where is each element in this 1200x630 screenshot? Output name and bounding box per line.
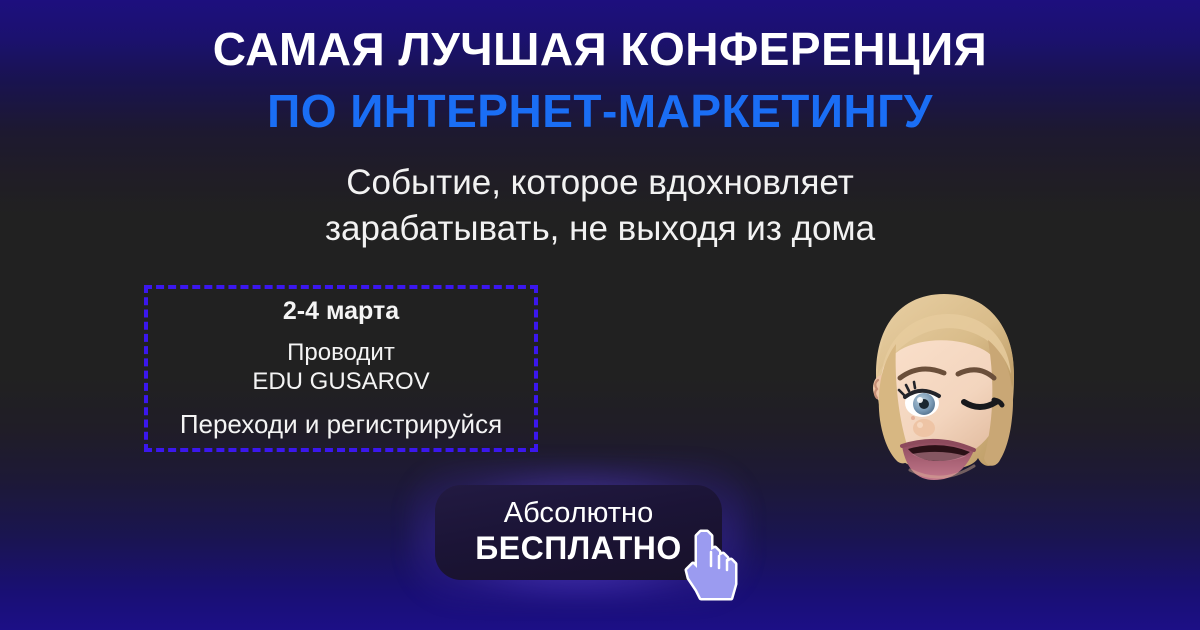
headline-line-1: САМАЯ ЛУЧШАЯ КОНФЕРЕНЦИЯ bbox=[0, 26, 1200, 72]
promo-banner: САМАЯ ЛУЧШАЯ КОНФЕРЕНЦИЯ ПО ИНТЕРНЕТ-МАР… bbox=[0, 0, 1200, 630]
cta-label-bottom: БЕСПЛАТНО bbox=[475, 529, 681, 567]
cta-button-wrapper: Абсолютно БЕСПЛАТНО bbox=[435, 485, 722, 580]
free-cta-button[interactable]: Абсолютно БЕСПЛАТНО bbox=[435, 485, 722, 580]
cta-label-top: Абсолютно bbox=[504, 498, 653, 528]
event-date: 2-4 марта bbox=[283, 297, 399, 326]
event-host: Проводит EDU GUSAROV bbox=[252, 339, 429, 396]
headline-line-2: ПО ИНТЕРНЕТ-МАРКЕТИНГУ bbox=[0, 88, 1200, 134]
register-prompt: Переходи и регистрируйся bbox=[180, 409, 502, 440]
subtitle-line-1: Событие, которое вдохновляет bbox=[0, 160, 1200, 206]
event-host-label: Проводит bbox=[252, 339, 429, 367]
subtitle: Событие, которое вдохновляет зарабатыват… bbox=[0, 160, 1200, 252]
memoji-avatar bbox=[838, 278, 1050, 490]
event-details-box: 2-4 марта Проводит EDU GUSAROV Переходи … bbox=[144, 285, 538, 452]
subtitle-line-2: зарабатывать, не выходя из дома bbox=[0, 206, 1200, 252]
event-host-name: EDU GUSAROV bbox=[252, 368, 429, 396]
